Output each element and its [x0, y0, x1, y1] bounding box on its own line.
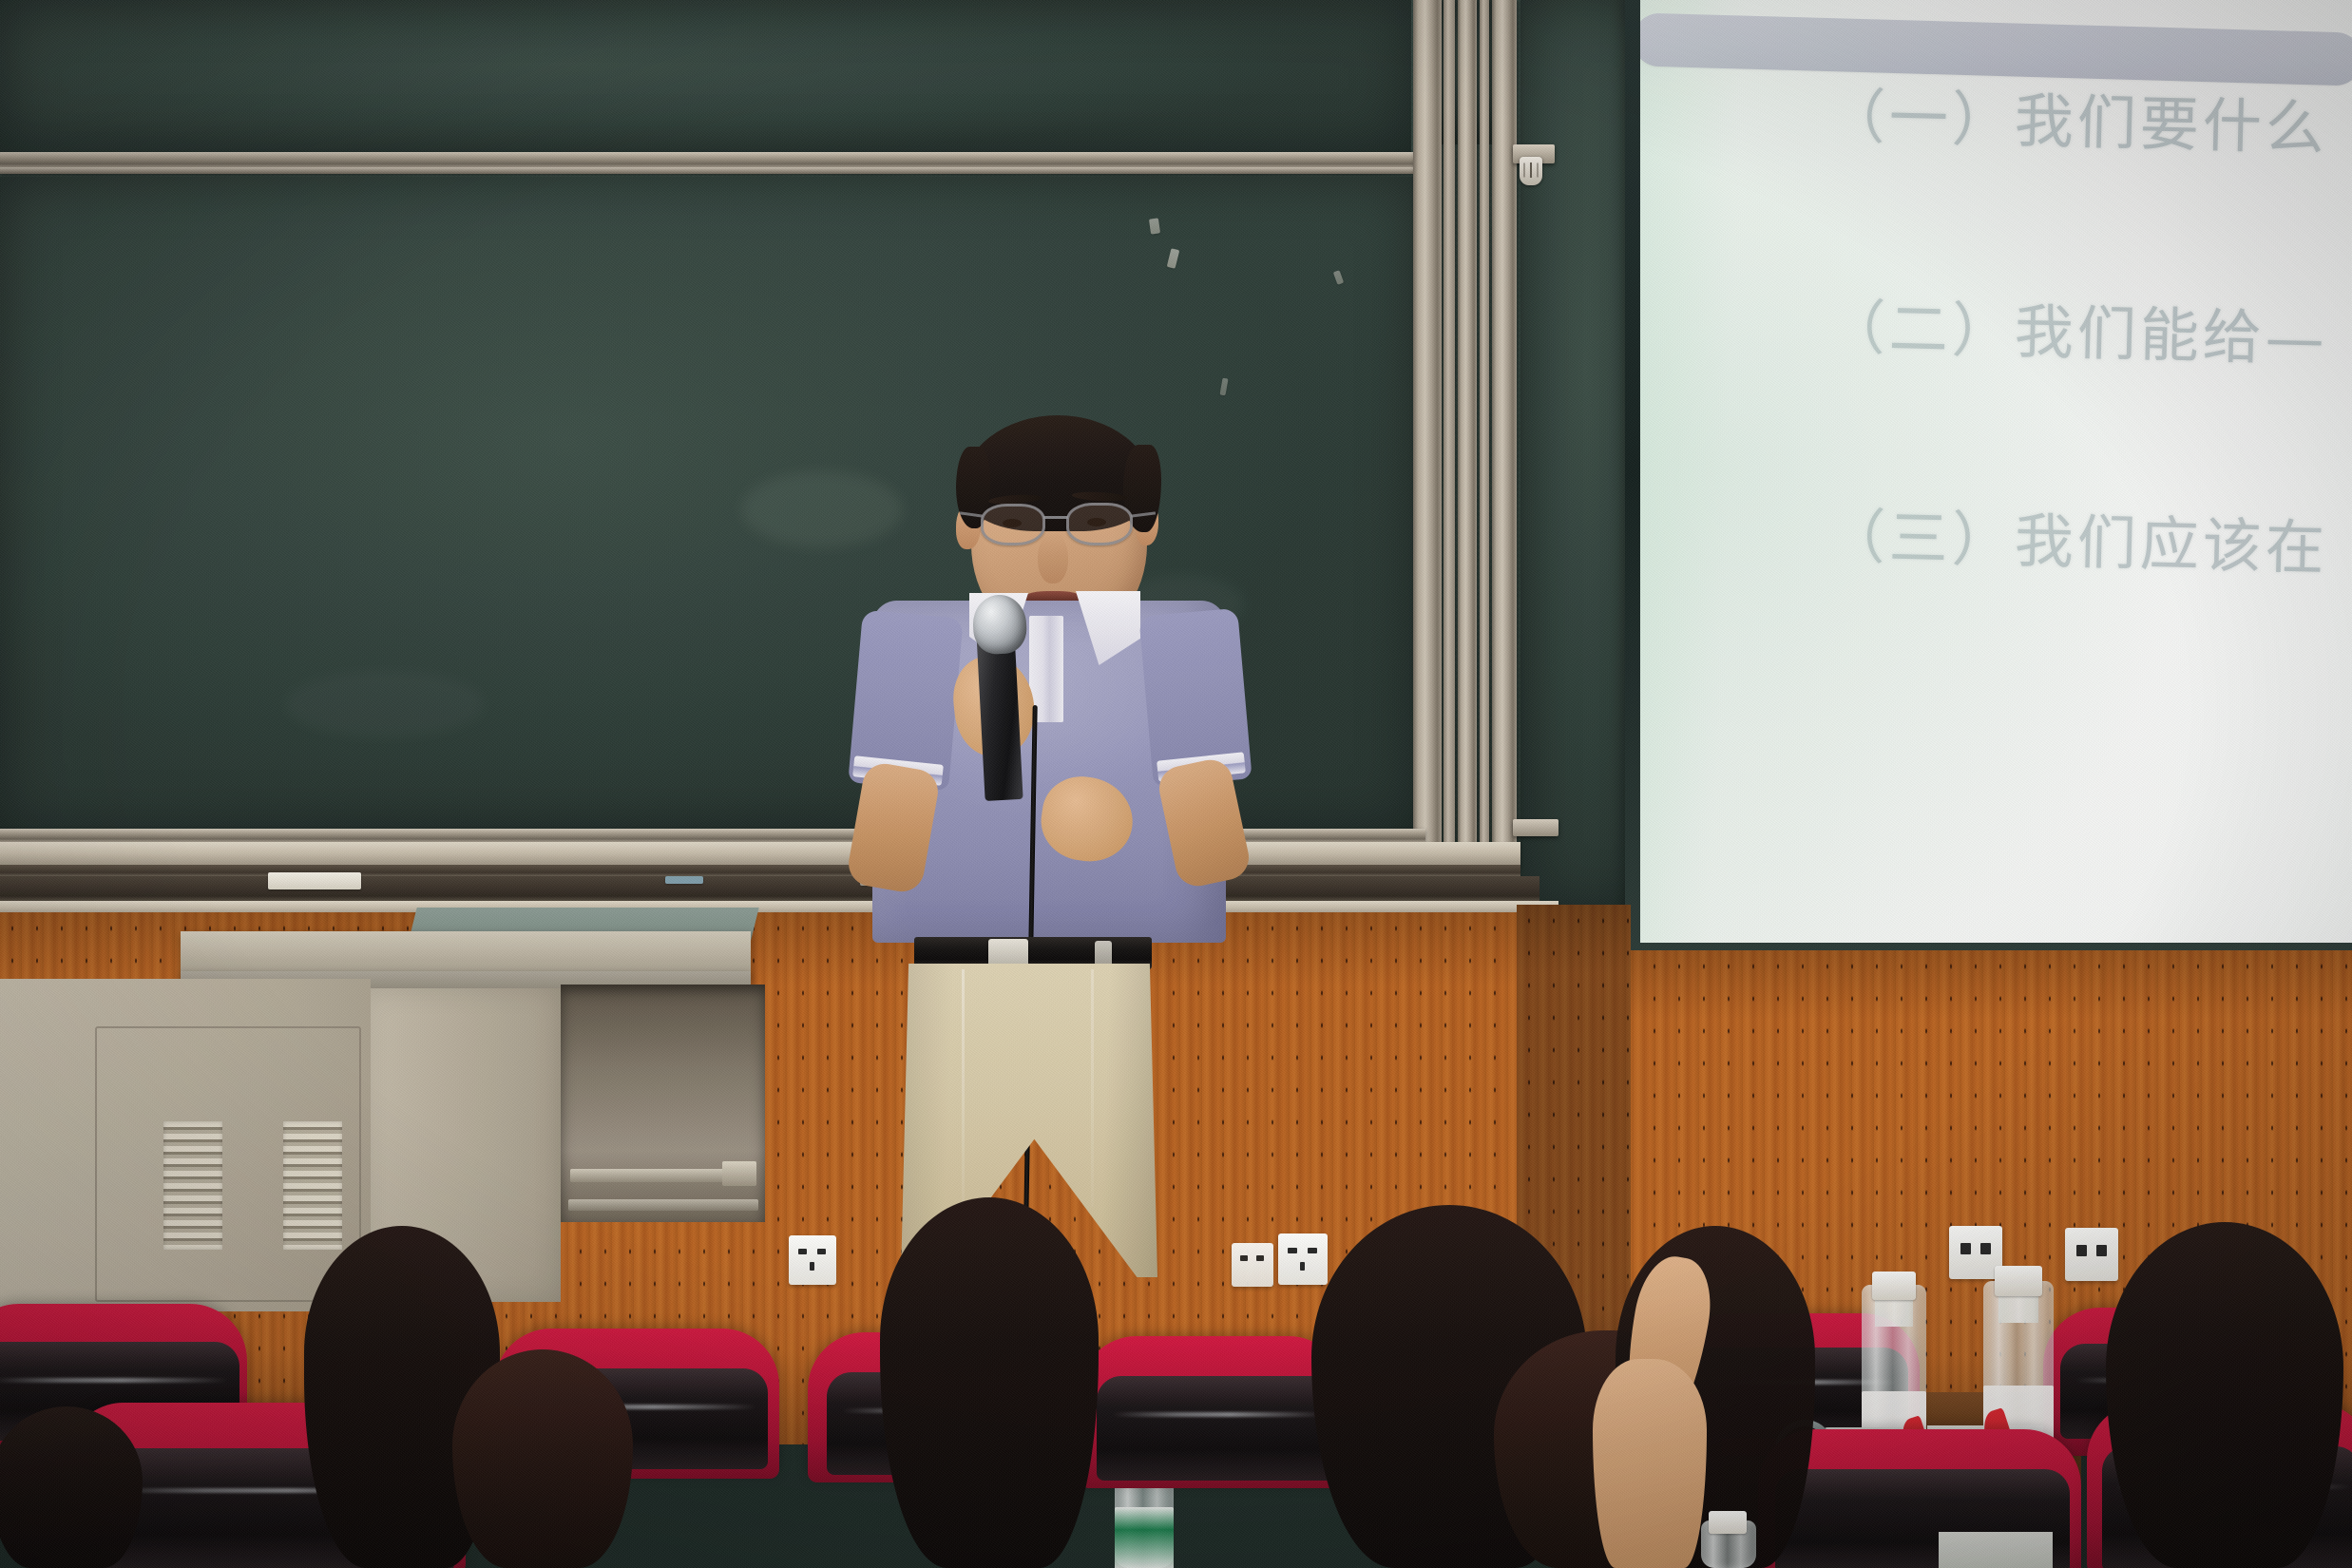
student-forearm — [1593, 1359, 1707, 1568]
speaker-eye — [1003, 519, 1022, 527]
student-head — [0, 1406, 143, 1568]
water-bottle[interactable] — [1701, 1520, 1756, 1568]
trouser-crease — [1091, 969, 1094, 1207]
seat-highlight — [1112, 1412, 1327, 1417]
trouser-crease — [962, 969, 965, 1207]
student-head — [452, 1349, 633, 1568]
student-head — [2106, 1222, 2343, 1568]
glasses-bridge — [1043, 516, 1068, 519]
speaker-eye — [1087, 518, 1106, 526]
paper-sheet — [1939, 1532, 2053, 1568]
student-head — [880, 1197, 1099, 1568]
lecture-hall-photo: （一）我们要什么 （二）我们能给— （三）我们应该在 — [0, 0, 2352, 1568]
speaker-nose — [1038, 532, 1068, 583]
seat-highlight — [0, 1378, 228, 1383]
seat-cushion — [1097, 1376, 1336, 1481]
